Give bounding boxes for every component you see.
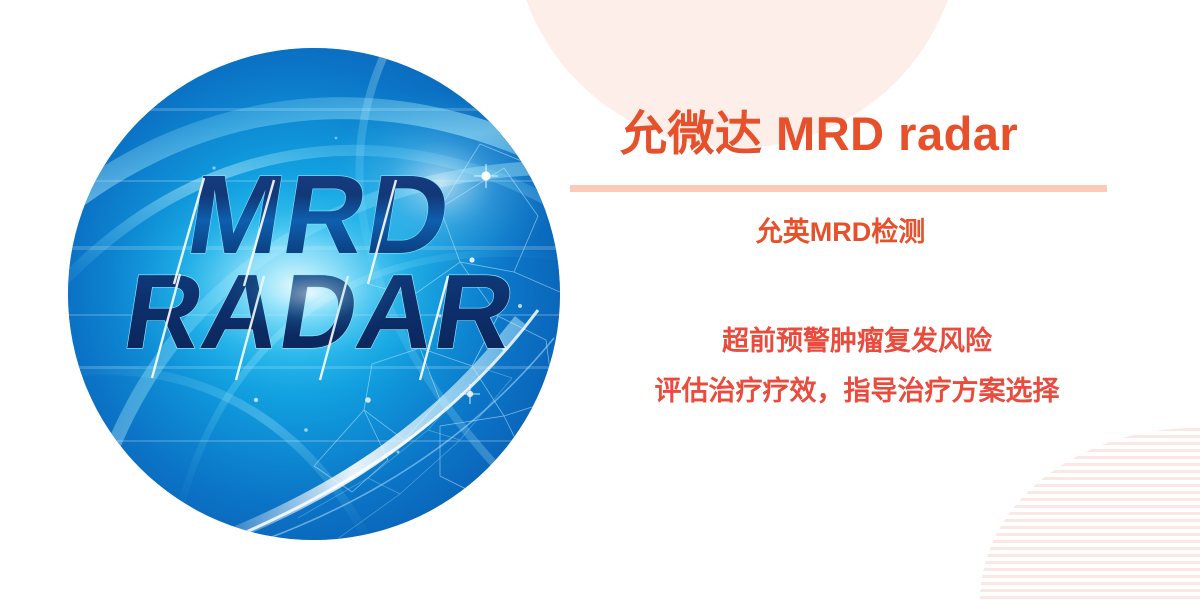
tagline-list: 超前预警肿瘤复发风险 评估治疗疗效，指导治疗方案选择 xyxy=(568,325,1146,409)
tagline-1: 超前预警肿瘤复发风险 xyxy=(568,325,1146,359)
tagline-2: 评估治疗疗效，指导治疗方案选择 xyxy=(568,375,1146,409)
mrd-radar-globe-graphic: MRD RADAR xyxy=(68,48,560,540)
page-subtitle: 允英MRD检测 xyxy=(568,215,1113,250)
hero-product-image: MRD RADAR xyxy=(68,48,560,540)
page-title: 允微达 MRD radar xyxy=(620,108,1018,160)
banner-text-column: 允微达 MRD radar 允英MRD检测 超前预警肿瘤复发风险 评估治疗疗效，… xyxy=(568,0,1180,600)
title-divider xyxy=(570,185,1107,192)
mrd-radar-banner: MRD RADAR xyxy=(0,0,1200,600)
